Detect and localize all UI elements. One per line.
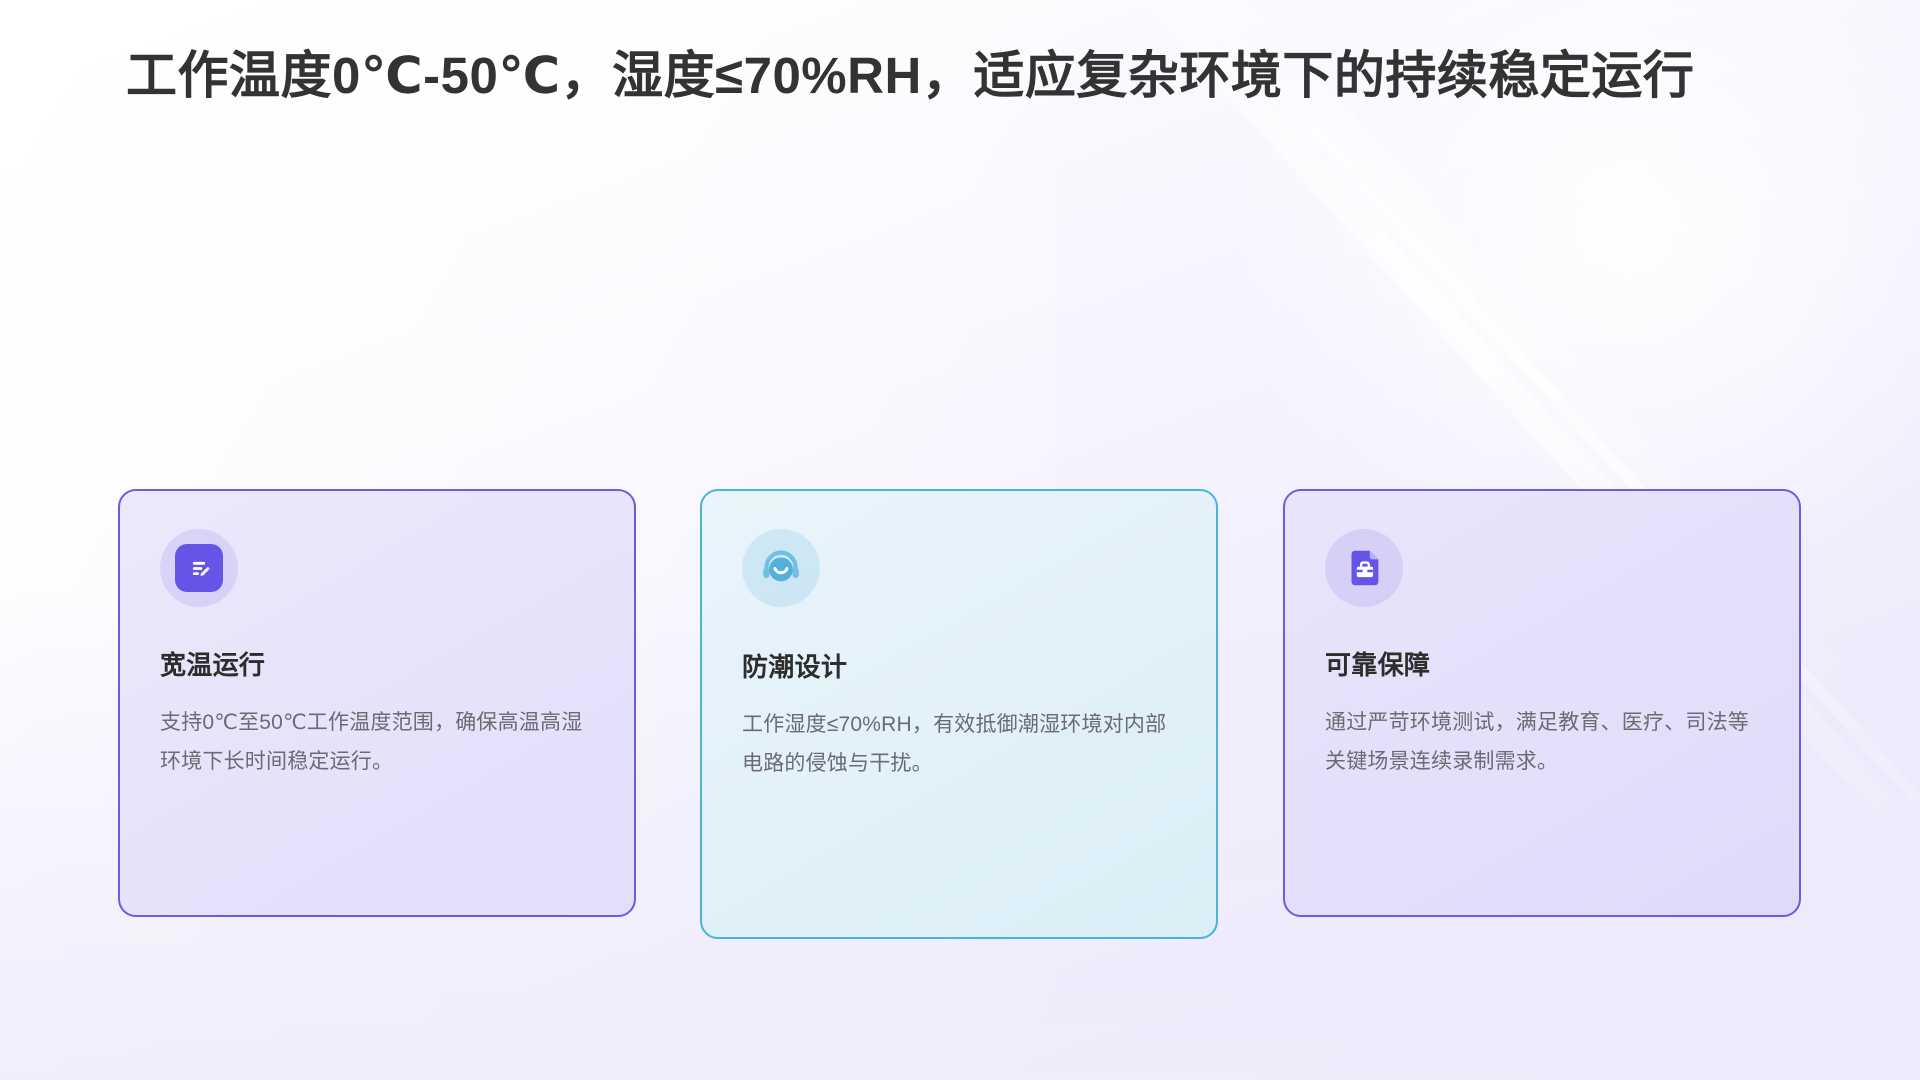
card-title: 可靠保障 — [1325, 645, 1759, 682]
card-description: 通过严苛环境测试，满足教育、医疗、司法等关键场景连续录制需求。 — [1325, 704, 1755, 782]
headset-support-icon — [742, 529, 820, 607]
card-title: 宽温运行 — [160, 645, 594, 682]
file-archive-icon — [1325, 529, 1403, 607]
document-edit-icon — [160, 529, 238, 607]
feature-card-moisture-proof[interactable]: 防潮设计 工作湿度≤70%RH，有效抵御潮湿环境对内部电路的侵蚀与干扰。 — [700, 489, 1218, 939]
card-description: 工作湿度≤70%RH，有效抵御潮湿环境对内部电路的侵蚀与干扰。 — [742, 706, 1172, 784]
feature-card-wide-temperature[interactable]: 宽温运行 支持0℃至50℃工作温度范围，确保高温高湿环境下长时间稳定运行。 — [118, 489, 636, 917]
card-description: 支持0℃至50℃工作温度范围，确保高温高湿环境下长时间稳定运行。 — [160, 704, 590, 782]
feature-card-reliability[interactable]: 可靠保障 通过严苛环境测试，满足教育、医疗、司法等关键场景连续录制需求。 — [1283, 489, 1801, 917]
card-title: 防潮设计 — [742, 647, 1176, 684]
feature-card-grid: 宽温运行 支持0℃至50℃工作温度范围，确保高温高湿环境下长时间稳定运行。 防潮… — [0, 0, 1920, 1080]
